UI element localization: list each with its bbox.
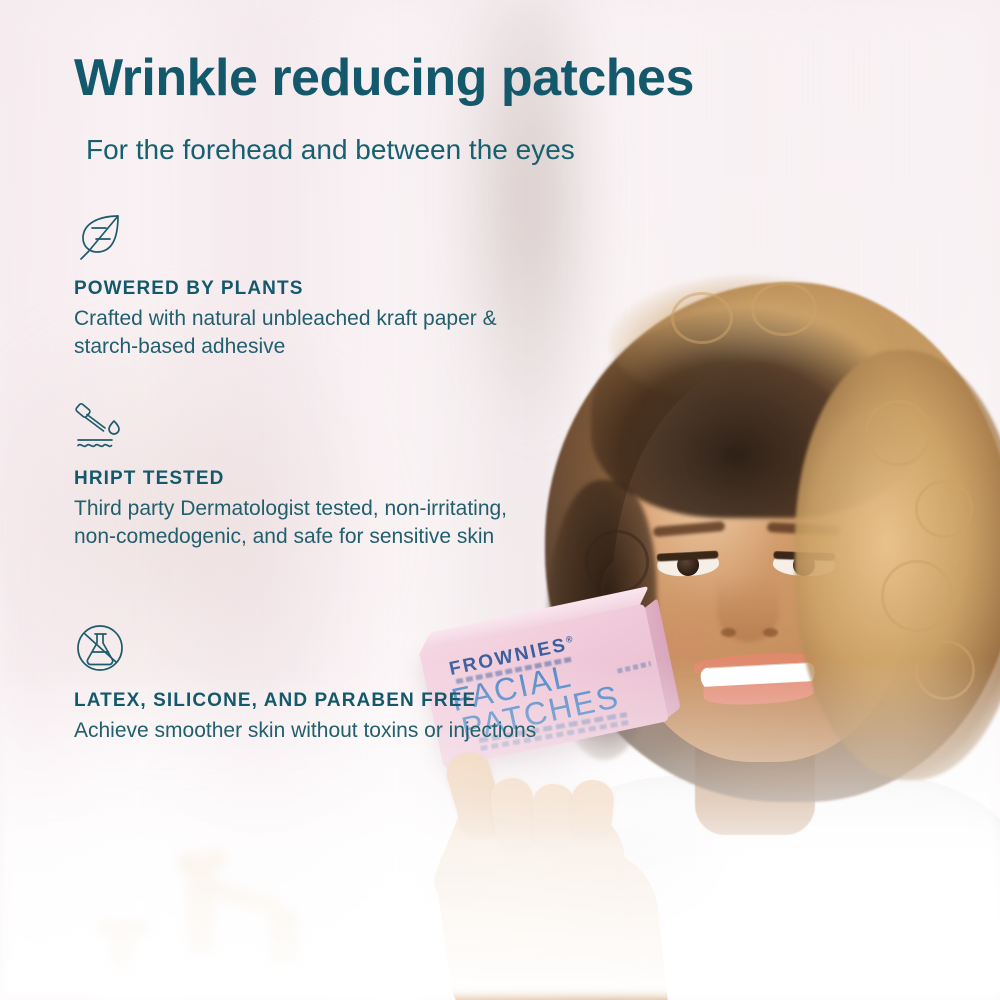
nostril-right: [763, 628, 778, 637]
eye-left: [656, 550, 719, 577]
hair-curl: [881, 560, 953, 632]
hair-curl: [915, 480, 973, 538]
feature-body: Crafted with natural unbleached kraft pa…: [74, 305, 544, 361]
feature-title: LATEX, SILICONE, AND PARABEN FREE: [74, 688, 544, 713]
feature-latex-silicone-paraben-free: LATEX, SILICONE, AND PARABEN FREE Achiev…: [74, 622, 544, 745]
feature-title: HRIPT TESTED: [74, 466, 544, 491]
hair-curl: [751, 282, 817, 336]
hair-curl: [585, 530, 649, 594]
product-marketing-image: FROWNIES® FACIAL PATCHES Wrinkle reducin…: [0, 0, 1000, 1000]
page-title: Wrinkle reducing patches: [74, 50, 694, 106]
feature-powered-by-plants: POWERED BY PLANTS Crafted with natural u…: [74, 210, 544, 361]
feature-title: POWERED BY PLANTS: [74, 276, 544, 301]
hair-curl: [671, 292, 733, 344]
no-chemicals-flask-icon: [74, 622, 126, 674]
leaf-icon: [74, 210, 126, 262]
feature-body: Achieve smoother skin without toxins or …: [74, 717, 544, 745]
feature-body: Third party Dermatologist tested, non-ir…: [74, 495, 544, 551]
hair-curl: [865, 400, 931, 466]
dropper-water-icon: [74, 400, 126, 452]
page-subtitle: For the forehead and between the eyes: [86, 134, 575, 166]
feature-hript-tested: HRIPT TESTED Third party Dermatologist t…: [74, 400, 544, 551]
